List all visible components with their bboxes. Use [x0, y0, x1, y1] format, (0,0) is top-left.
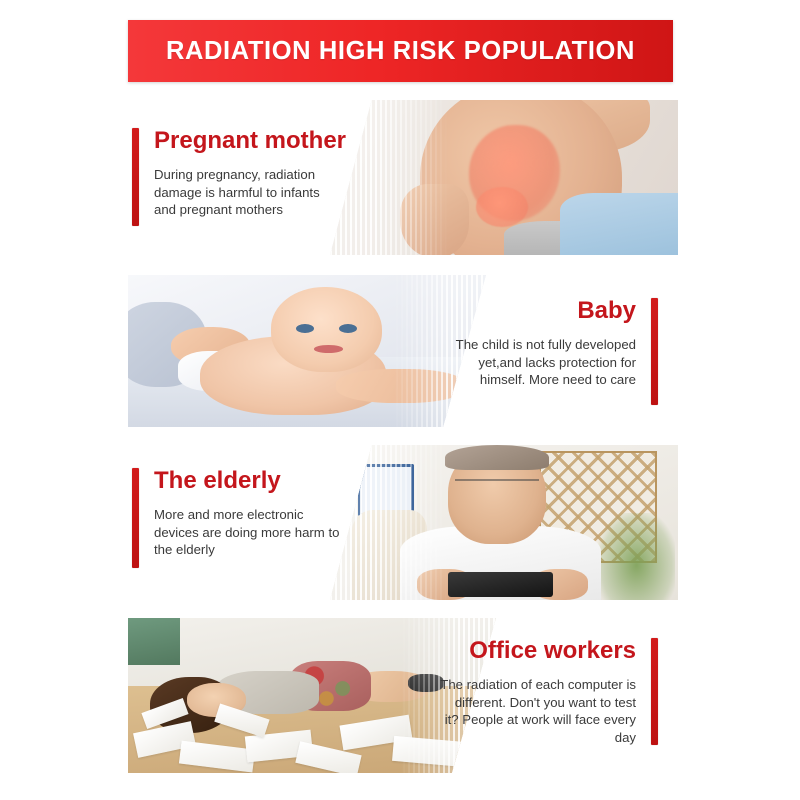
- plant-shape: [598, 513, 675, 600]
- section-the-elderly-text: The elderly More and more electronic dev…: [132, 468, 342, 568]
- section-pregnant-mother-text: Pregnant mother During pregnancy, radiat…: [132, 128, 342, 228]
- section-office-workers-text: Office workers The radiation of each com…: [440, 638, 658, 748]
- accent-bar: [651, 638, 658, 745]
- section-body-text: More and more electronic devices are doi…: [154, 506, 342, 559]
- fetus-head-shape: [476, 187, 528, 227]
- elderly-photo: [330, 445, 678, 600]
- baby-eye-right: [339, 324, 357, 333]
- section-baby-text: Baby The child is not fully developed ye…: [455, 298, 658, 408]
- baby-arm-shape: [336, 369, 465, 402]
- section-heading: Office workers: [440, 638, 636, 664]
- section-heading: Baby: [455, 298, 636, 324]
- baby-mouth: [314, 345, 343, 353]
- baby-head-shape: [271, 287, 382, 372]
- head-shape: [187, 683, 246, 717]
- section-body-text: The child is not fully developed yet,and…: [455, 336, 636, 389]
- shoe-shape: [408, 674, 445, 693]
- hand-shape: [400, 184, 470, 255]
- accent-bar: [651, 298, 658, 405]
- green-wall-panel: [128, 618, 180, 665]
- infographic-page: RADIATION HIGH RISK POPULATION Pregnant …: [0, 0, 800, 800]
- accent-bar: [132, 128, 139, 226]
- picture-frame: [358, 464, 414, 517]
- baby-photo: [128, 275, 486, 427]
- page-title: RADIATION HIGH RISK POPULATION: [166, 37, 635, 66]
- accent-bar: [132, 468, 139, 568]
- header-banner: RADIATION HIGH RISK POPULATION: [128, 20, 673, 82]
- baby-eye-left: [296, 324, 314, 333]
- pregnant-mother-photo: [330, 100, 678, 255]
- section-heading: The elderly: [154, 468, 342, 494]
- section-body-text: During pregnancy, radiation damage is ha…: [154, 166, 342, 219]
- pregnant-belly-artwork: [330, 100, 678, 255]
- smartphone-shape: [448, 572, 552, 597]
- baby-artwork: [128, 275, 486, 427]
- jeans-shape: [560, 193, 678, 255]
- glasses-icon: [455, 479, 539, 490]
- section-heading: Pregnant mother: [154, 128, 342, 154]
- elderly-man-artwork: [330, 445, 678, 600]
- section-body-text: The radiation of each computer is differ…: [440, 676, 636, 746]
- elderly-hair-shape: [445, 445, 549, 470]
